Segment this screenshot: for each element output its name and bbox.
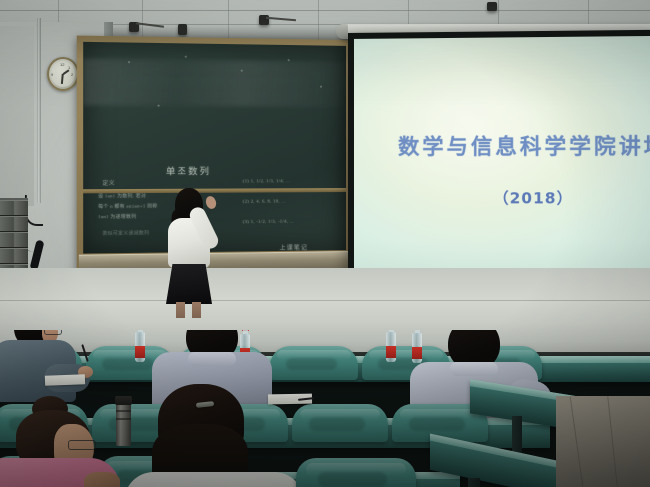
- clock-hour-mark: 9: [51, 72, 53, 77]
- lecture-hall-photo: 12 1 2 9 单조数列 定义 设 {an} 为数列, 若对 每个 n 都: [0, 0, 650, 487]
- slide-year: （2018）: [493, 187, 573, 208]
- seat: [270, 346, 358, 380]
- blackboard-note: 设 {an} 为数列, 若对: [98, 193, 146, 200]
- wall-conduit-pole: [37, 18, 41, 203]
- blackboard-note: (3) 1, -1/2, 1/3, -1/4, ...: [243, 219, 294, 226]
- screen-vignette: [354, 36, 650, 297]
- clock-hour-mark: 12: [60, 62, 64, 67]
- paper-sheet: [45, 374, 85, 385]
- blackboard-glare: [83, 59, 346, 107]
- far-left-wall: [0, 26, 34, 206]
- glasses-icon: [68, 440, 96, 450]
- screen-roller-cap: [336, 24, 348, 39]
- attendee-torso: [124, 472, 304, 487]
- presenter-leg: [192, 302, 201, 318]
- water-bottle: [134, 330, 146, 362]
- presenter-leg: [176, 302, 185, 318]
- slide-title: 数学与信息科学学院讲坛: [398, 130, 650, 161]
- wall-clock: 12 1 2 9: [47, 57, 79, 91]
- presenter-at-blackboard: [160, 188, 224, 314]
- audience-seating-area: [0, 330, 650, 487]
- aisle-floor: [556, 396, 650, 487]
- blackboard-note: 类似可定义递减数列: [102, 230, 149, 237]
- attendee-collar: [450, 362, 498, 376]
- attendee-left-front: [0, 330, 92, 406]
- seat: [292, 404, 388, 442]
- bottle-label: [386, 346, 396, 358]
- desk-leg: [468, 478, 480, 487]
- blackboard-note: 定义: [102, 181, 115, 189]
- ceiling-fixture-icon: [487, 2, 497, 11]
- blackboard-note: {an} 为递增数列: [98, 214, 136, 221]
- blackboard-note: (1) 1, 1/2, 1/3, 1/4, ...: [243, 178, 290, 185]
- attendee-white-foreground: [130, 384, 300, 487]
- projection-screen-surface: 数学与信息科学学院讲坛 （2018）: [354, 36, 650, 297]
- presenter-hand: [204, 195, 218, 210]
- clock-hour-mark: 2: [71, 72, 73, 77]
- presenter-skirt: [166, 264, 212, 304]
- glasses-icon: [44, 330, 62, 335]
- water-bottle: [385, 330, 397, 362]
- attendee-hand: [84, 472, 120, 487]
- blackboard-note: (2) 2, 4, 6, 8, 10, ...: [243, 198, 286, 205]
- ceiling-fixture-icon: [178, 24, 187, 35]
- seat: [296, 458, 416, 487]
- blackboard-signature: 上课笔记: [280, 243, 308, 252]
- blackboard-heading: 单조数列: [166, 164, 211, 177]
- bottle-label: [135, 346, 145, 358]
- wall-seam: [0, 300, 650, 301]
- attendee-pink-foreground: [0, 396, 150, 487]
- blackboard-note: 每个 n 都有 an≤an+1 则称: [98, 203, 157, 210]
- attendee-collar: [188, 352, 236, 366]
